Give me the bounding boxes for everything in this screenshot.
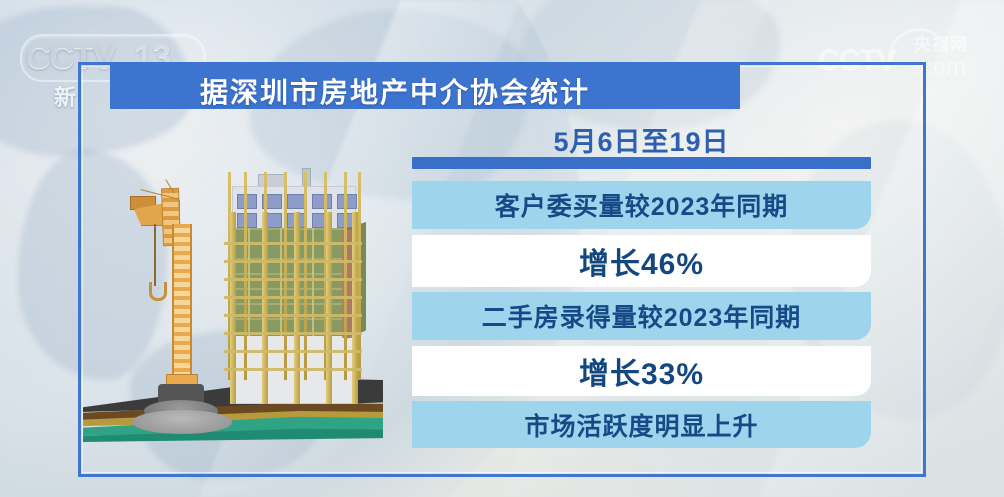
window <box>312 194 332 209</box>
scaffold-rail <box>224 260 362 263</box>
scaffold-column <box>326 212 332 404</box>
rebar <box>304 172 307 380</box>
stat-label-text: 二手房录得量较2023年同期 <box>482 298 802 334</box>
window <box>237 194 257 209</box>
stat-row-label-3: 市场活跃度明显上升 <box>412 401 871 448</box>
building-under-construction <box>218 186 368 418</box>
construction-illustration <box>88 170 398 470</box>
scaffold-rail <box>224 350 362 353</box>
stat-value-text: 增长33% <box>579 349 704 393</box>
tower-crane <box>128 178 236 418</box>
date-range-label: 5月6日至19日 <box>412 120 871 159</box>
crane-hook-icon <box>149 282 167 301</box>
stat-row-value-2: 增长33% <box>412 346 871 396</box>
watermark-cn-text: 央视网 <box>914 30 968 55</box>
stat-row-label-1: 客户委买量较2023年同期 <box>412 181 871 229</box>
stat-row-value-1: 增长46% <box>412 235 871 287</box>
window <box>337 194 357 209</box>
rebar <box>244 172 247 380</box>
crane-hoist-line <box>154 224 156 286</box>
scaffold-rail <box>224 278 362 281</box>
scaffold-column <box>352 212 358 404</box>
stat-label-text: 客户委买量较2023年同期 <box>495 187 789 223</box>
window <box>237 213 257 228</box>
stat-label-text: 市场活跃度明显上升 <box>524 407 758 443</box>
stat-value-text: 增长46% <box>579 239 704 283</box>
scaffold-rail <box>224 296 362 299</box>
scaffold-rail <box>224 314 362 317</box>
stat-row-label-2: 二手房录得量较2023年同期 <box>412 292 871 340</box>
page-title: 据深圳市房地产中介协会统计 <box>200 71 590 111</box>
scaffold-rail <box>224 242 362 245</box>
divider-rule <box>412 157 871 169</box>
headline-bar: 据深圳市房地产中介协会统计 <box>110 62 740 109</box>
scaffold-rail <box>224 368 362 371</box>
scaffold-column <box>294 212 300 404</box>
scaffold-column <box>262 212 268 404</box>
broadcast-screen: CCTV 13 新 闻 CCTV 央视网 .com <box>0 0 1004 497</box>
rebar <box>358 172 361 380</box>
scaffold-rail <box>224 332 362 335</box>
rebar <box>344 172 347 380</box>
window-row <box>237 194 357 209</box>
rebar <box>284 172 287 380</box>
crane-base-pad <box>132 410 232 434</box>
